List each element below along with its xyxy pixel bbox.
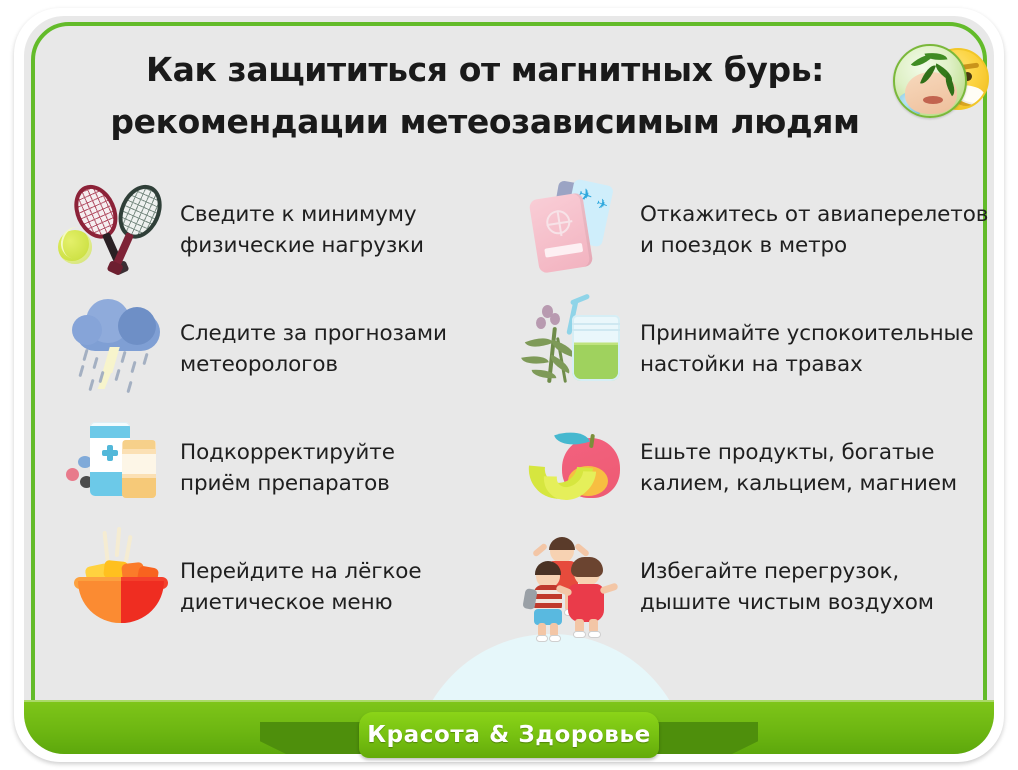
herb-leaf [525, 332, 553, 352]
tip-item: Подкорректируйте приём препаратов [60, 408, 520, 527]
steam-line [115, 526, 122, 556]
tip-line-1: Следите за прогнозами [180, 318, 447, 349]
tip-line-2: калием, кальцием, магнием [640, 468, 957, 499]
passport-tickets-icon: ✈ ✈ [520, 178, 640, 282]
steam-line [102, 530, 109, 560]
tip-line-1: Откажитесь от авиаперелетов [640, 199, 988, 230]
tip-line-1: Перейдите на лёгкое [180, 556, 421, 587]
tip-text: Следите за прогнозами метеорологов [180, 318, 447, 380]
herb-bud [550, 313, 560, 325]
pill-shape [66, 468, 79, 481]
tip-item: Избегайте перегрузок, дышите чистым возд… [520, 527, 1000, 646]
beauty-health-logo-icon [893, 44, 989, 120]
rain-drop [120, 350, 126, 362]
title-line-1: Как защититься от магнитных бурь: [60, 44, 910, 96]
steam-line [123, 534, 132, 564]
tip-item: Ешьте продукты, богатые калием, кальцием… [520, 408, 1000, 527]
fruits-icon [520, 416, 640, 520]
brand-label: Красота & Здоровье [367, 722, 651, 748]
herb-leaf [532, 368, 557, 380]
tip-line-1: Ешьте продукты, богатые [640, 437, 957, 468]
rain-drop [92, 356, 98, 368]
drink-jar [572, 315, 620, 381]
tip-item: Принимайте успокоительные настойки на тр… [520, 289, 1000, 408]
tip-text: Принимайте успокоительные настойки на тр… [640, 318, 974, 380]
tip-line-2: метеорологов [180, 349, 447, 380]
tip-line-2: и поездок в метро [640, 230, 988, 261]
tip-line-2: физические нагрузки [180, 230, 424, 261]
tip-text: Ешьте продукты, богатые калием, кальцием… [640, 437, 957, 499]
rain-drop [78, 364, 84, 376]
tip-text: Откажитесь от авиаперелетов и поездок в … [640, 199, 988, 261]
children-icon [520, 535, 640, 639]
lips-shape [923, 96, 943, 104]
rain-drop [82, 348, 88, 360]
tip-line-2: приём препаратов [180, 468, 395, 499]
tip-text: Сведите к минимуму физические нагрузки [180, 199, 424, 261]
herb-leaf [521, 352, 549, 367]
rain-drop [142, 352, 148, 364]
herbal-face-badge-icon [893, 44, 967, 118]
bowl-shape [78, 581, 164, 623]
page-title: Как защититься от магнитных бурь: рекоме… [60, 44, 910, 148]
tip-item: Следите за прогнозами метеорологов [60, 289, 520, 408]
tip-item: Сведите к минимуму физические нагрузки [60, 170, 520, 289]
tip-line-2: настойки на травах [640, 349, 974, 380]
medicine-bottles-icon [60, 416, 180, 520]
cloud-shape [72, 315, 102, 345]
food-bowl-icon [60, 535, 180, 639]
tip-line-1: Подкорректируйте [180, 437, 395, 468]
tips-column-right: ✈ ✈ Откажитесь от авиаперелетов и поездо… [520, 170, 1000, 646]
tip-line-1: Избегайте перегрузок, [640, 556, 934, 587]
cloud-shape [118, 307, 156, 345]
footer-ribbon-area: Красота & Здоровье [0, 712, 1018, 770]
tip-text: Перейдите на лёгкое диетическое меню [180, 556, 421, 618]
tip-text: Избегайте перегрузок, дышите чистым возд… [640, 556, 934, 618]
herbal-drink-icon [520, 297, 640, 401]
tip-line-2: диетическое меню [180, 587, 421, 618]
title-line-2: рекомендации метеозависимым людям [60, 96, 910, 148]
passport-shape [529, 192, 594, 274]
tip-text: Подкорректируйте приём препаратов [180, 437, 395, 499]
brand-badge: Красота & Здоровье [359, 712, 659, 758]
rain-drop [114, 368, 120, 380]
tip-item: Перейдите на лёгкое диетическое меню [60, 527, 520, 646]
herb-bud [536, 317, 546, 329]
storm-cloud-icon [60, 297, 180, 401]
pill-bottle [122, 440, 156, 498]
tip-line-2: дышите чистым воздухом [640, 587, 934, 618]
tip-line-1: Принимайте успокоительные [640, 318, 974, 349]
child-figure [562, 557, 616, 637]
tips-column-left: Сведите к минимуму физические нагрузки [60, 170, 520, 646]
rain-drop [126, 380, 132, 392]
rain-drop [88, 378, 94, 390]
rain-drop [130, 360, 136, 372]
tennis-rackets-icon [60, 178, 180, 282]
infographic-poster: Как защититься от магнитных бурь: рекоме… [0, 0, 1018, 770]
tip-line-1: Сведите к минимуму [180, 199, 424, 230]
tip-item: ✈ ✈ Откажитесь от авиаперелетов и поездо… [520, 170, 1000, 289]
